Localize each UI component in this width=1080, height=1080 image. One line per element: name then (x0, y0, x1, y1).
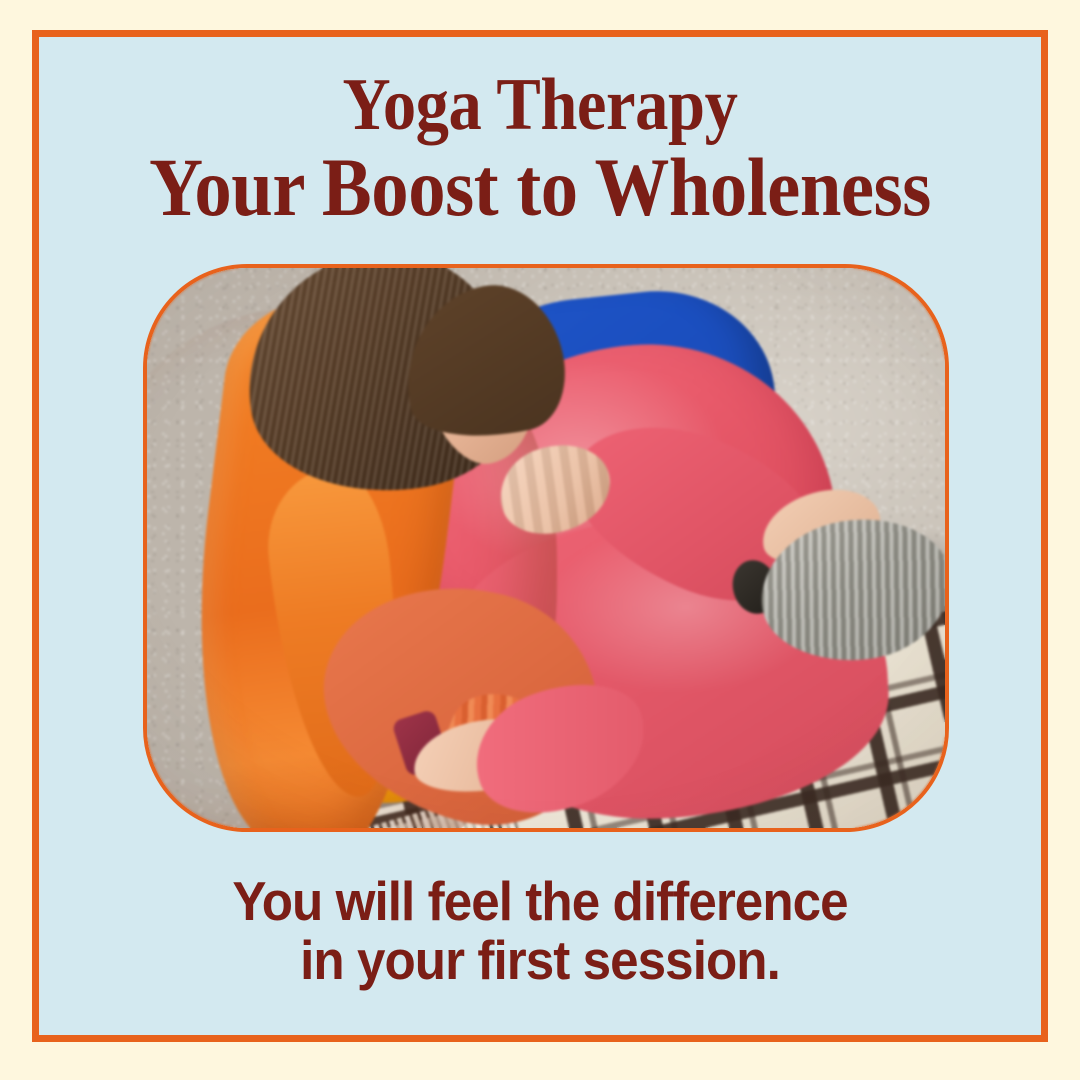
headline-line-2: Your Boost to Wholeness (89, 146, 991, 228)
tagline-line-1: You will feel the difference (74, 872, 1006, 930)
poster-canvas: Yoga Therapy Your Boost to Wholeness (0, 0, 1080, 1080)
tagline: You will feel the difference in your fir… (39, 872, 1041, 989)
headline-line-1: Yoga Therapy (89, 69, 991, 142)
photo-frame (143, 264, 949, 832)
tagline-line-2: in your first session. (74, 931, 1006, 989)
page-title: Yoga Therapy Your Boost to Wholeness (39, 69, 1041, 228)
therapy-session-photo (147, 268, 945, 828)
poster-panel: Yoga Therapy Your Boost to Wholeness (32, 30, 1048, 1042)
